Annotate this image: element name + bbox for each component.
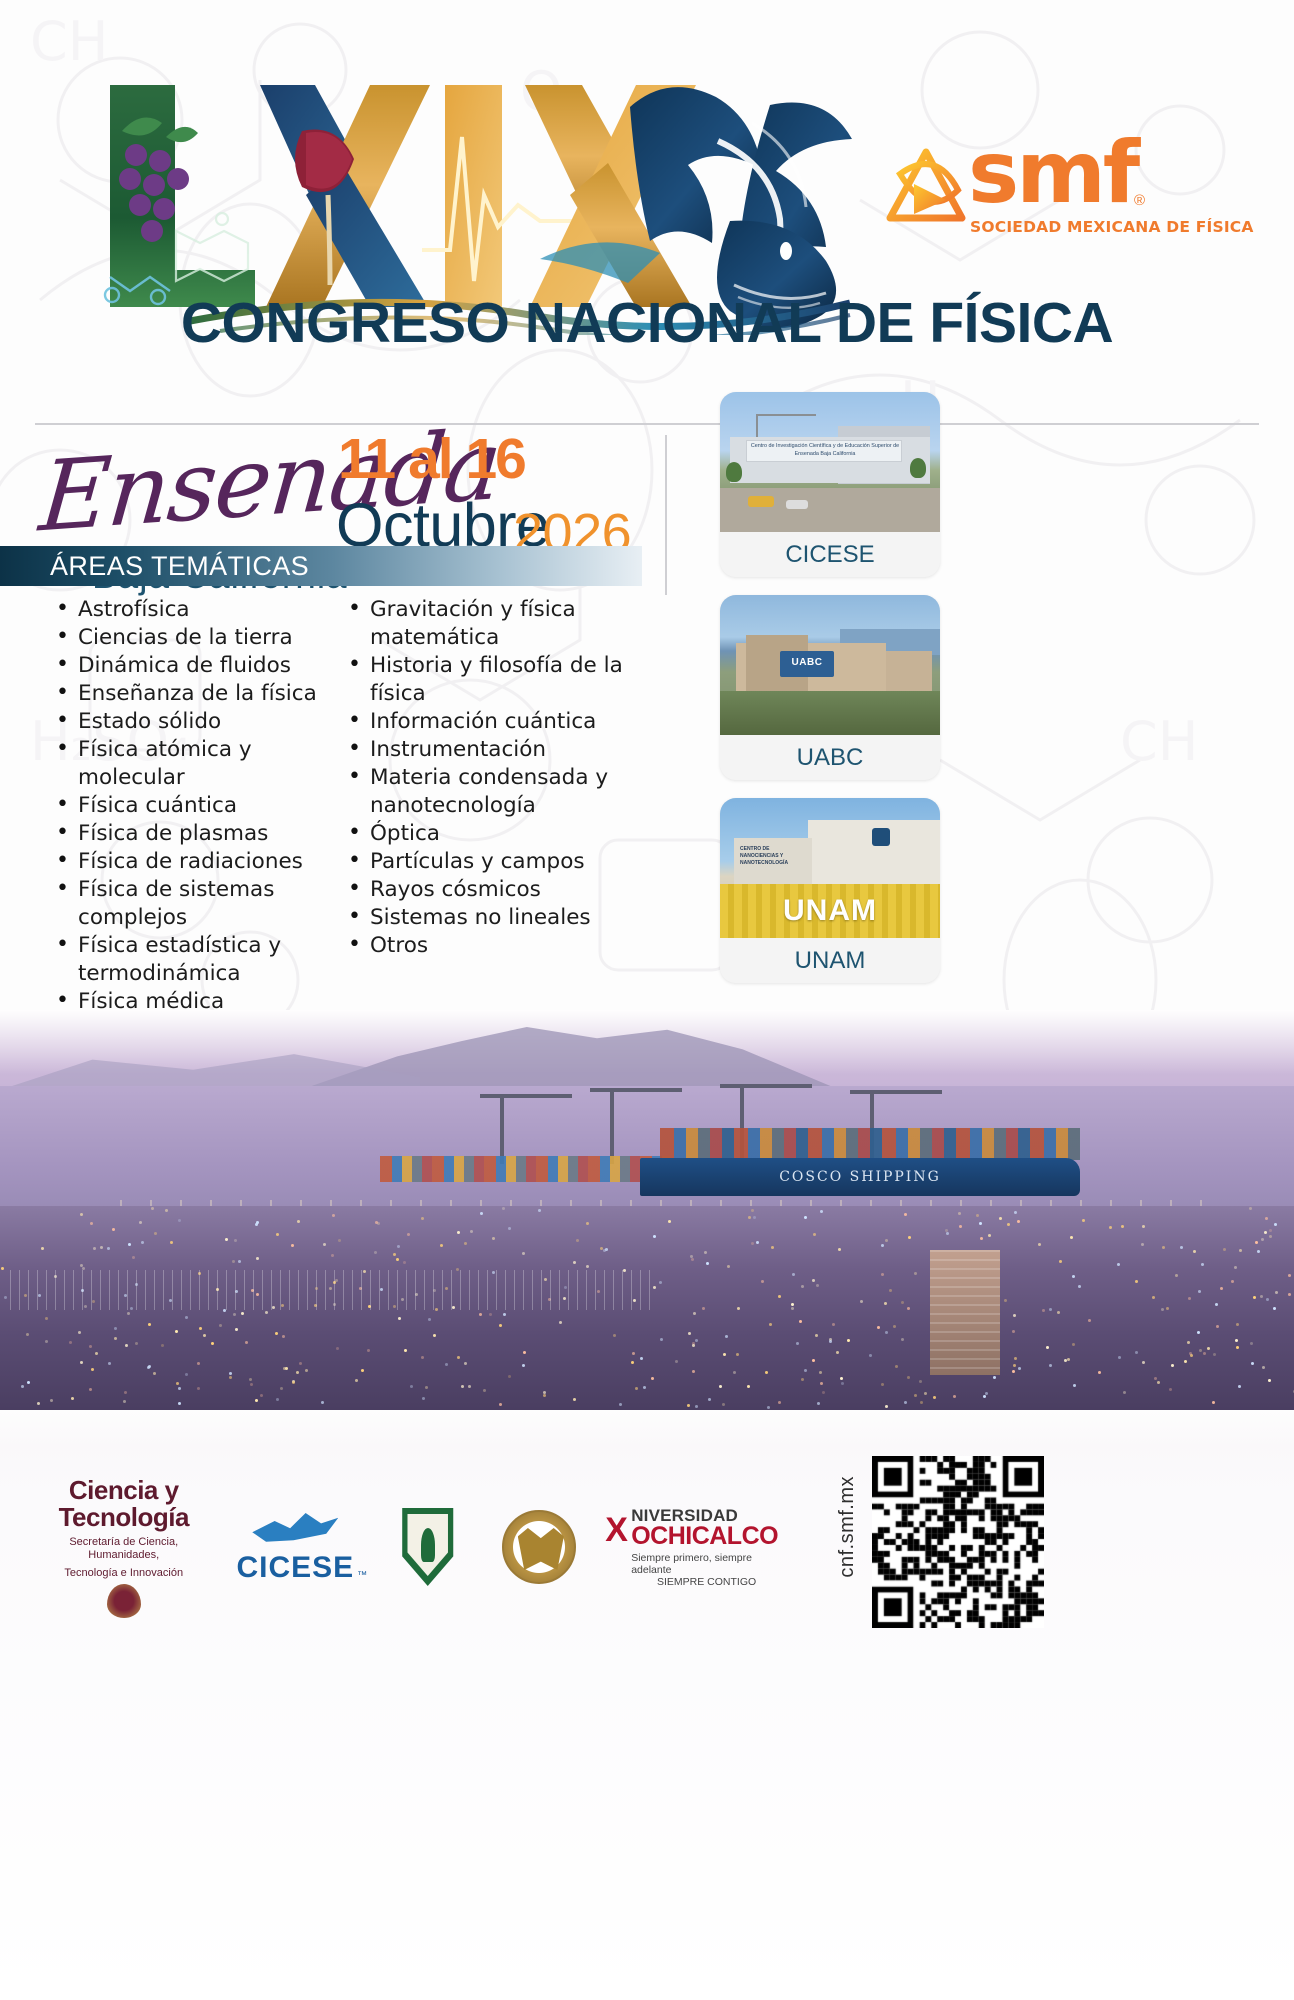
city-light	[1250, 1342, 1253, 1345]
city-light	[393, 1253, 396, 1256]
sponsor-logos: Ciencia y Tecnología Secretaría de Cienc…	[40, 1452, 800, 1642]
city-light	[275, 1332, 278, 1335]
city-light	[132, 1256, 135, 1259]
city-light	[1212, 1401, 1215, 1404]
city-light	[235, 1328, 238, 1331]
city-light	[659, 1281, 662, 1284]
xochicalco-line1: NIVERSIDAD	[631, 1507, 782, 1524]
ship-containers	[660, 1128, 1080, 1160]
city-light	[993, 1376, 996, 1379]
city-light	[41, 1247, 44, 1250]
city-light	[695, 1339, 698, 1342]
smf-subtitle: SOCIEDAD MEXICANA DE FÍSICA	[970, 218, 1254, 236]
city-light	[778, 1401, 781, 1404]
header-divider	[35, 423, 1259, 425]
city-light	[26, 1333, 29, 1336]
city-light	[176, 1382, 179, 1385]
city-light	[889, 1289, 892, 1292]
smf-wordmark: smf	[968, 130, 1137, 216]
city-light	[706, 1262, 709, 1265]
city-light	[45, 1317, 48, 1320]
city-light	[1249, 1207, 1252, 1210]
city-light	[250, 1383, 253, 1386]
city-light	[199, 1327, 202, 1330]
city-light	[1236, 1346, 1239, 1349]
city-light	[260, 1394, 263, 1397]
topic-list-item: Dinámica de fluidos	[52, 652, 330, 680]
city-light	[80, 1264, 83, 1267]
cicese-photo: Centro de Investigación Científica y de …	[720, 392, 940, 532]
city-light	[1007, 1223, 1010, 1226]
topic-list-item: Enseñanza de la física	[52, 680, 330, 708]
city-light	[737, 1307, 740, 1310]
city-light	[153, 1372, 156, 1375]
city-light	[479, 1313, 482, 1316]
city-light	[901, 1338, 904, 1341]
city-light	[100, 1246, 103, 1249]
city-light	[1288, 1293, 1291, 1296]
city-light	[1142, 1225, 1145, 1228]
cicese-bird-icon	[252, 1509, 338, 1549]
city-light	[1236, 1323, 1239, 1326]
city-light	[801, 1378, 804, 1381]
city-light	[45, 1340, 48, 1343]
topic-list-item: Óptica	[344, 820, 660, 848]
topic-list-item: Física cuántica	[52, 792, 330, 820]
city-light	[37, 1402, 40, 1405]
city-light	[1014, 1357, 1017, 1360]
city-light	[508, 1375, 511, 1378]
city-light	[1231, 1280, 1234, 1283]
city-light	[907, 1376, 910, 1379]
poster-header: smf ® SOCIEDAD MEXICANA DE FÍSICA CONGRE…	[0, 0, 1294, 440]
cicese-sponsor-name: CICESE	[226, 1551, 366, 1585]
city-light	[613, 1334, 616, 1337]
venue-card-unam[interactable]: CENTRO DE NANOCIENCIAS Y NANOTECNOLOGÍA …	[720, 798, 940, 983]
topics-column-left: AstrofísicaCiencias de la tierraDinámica…	[0, 596, 330, 1036]
city-light	[332, 1214, 335, 1217]
city-light	[91, 1368, 94, 1371]
city-light	[90, 1222, 93, 1225]
uabc-photo: UABC	[720, 595, 940, 735]
city-light	[1135, 1280, 1138, 1283]
unam-photo: CENTRO DE NANOCIENCIAS Y NANOTECNOLOGÍA …	[720, 798, 940, 938]
city-light	[367, 1349, 370, 1352]
city-light	[374, 1251, 377, 1254]
poster-root: CHO HCH H₂SO₄N O₂CH	[0, 0, 1294, 2000]
city-light	[1215, 1303, 1218, 1306]
city-light	[765, 1371, 768, 1374]
city-light	[1171, 1364, 1174, 1367]
areas-section-header: ÁREAS TEMÁTICAS	[0, 546, 642, 586]
city-light	[660, 1338, 663, 1341]
city-light	[1260, 1295, 1263, 1298]
city-light	[1207, 1347, 1210, 1350]
city-light	[1117, 1263, 1120, 1266]
city-light	[1013, 1364, 1016, 1367]
city-light	[543, 1394, 546, 1397]
city-light	[933, 1396, 936, 1399]
city-light	[211, 1342, 214, 1345]
topic-list-item: Instrumentación	[344, 736, 660, 764]
city-light	[398, 1317, 401, 1320]
city-light	[404, 1349, 407, 1352]
city-light	[489, 1313, 492, 1316]
xochicalco-line2: OCHICALCO	[631, 1524, 782, 1549]
city-light	[695, 1405, 698, 1408]
city-light	[829, 1340, 832, 1343]
city-light	[812, 1359, 815, 1362]
city-light	[640, 1357, 643, 1360]
city-light	[232, 1260, 235, 1263]
city-light	[410, 1385, 413, 1388]
city-light	[135, 1342, 138, 1345]
city-light	[407, 1233, 410, 1236]
topic-list-item: Gravitación y física matemática	[344, 596, 660, 652]
thematic-areas-lists: AstrofísicaCiencias de la tierraDinámica…	[0, 596, 680, 1036]
city-light	[804, 1216, 807, 1219]
city-light	[292, 1381, 295, 1384]
uabc-shield-icon	[399, 1508, 457, 1586]
topic-list-item: Física estadística y termodinámica	[52, 932, 330, 988]
topic-list-item: Astrofísica	[52, 596, 330, 624]
city-light	[719, 1385, 722, 1388]
city-light	[653, 1235, 656, 1238]
city-light	[791, 1307, 794, 1310]
city-light	[736, 1353, 739, 1356]
city-light	[1049, 1308, 1052, 1311]
city-light	[895, 1365, 898, 1368]
topic-list-item: Estado sólido	[52, 708, 330, 736]
city-light	[128, 1243, 131, 1246]
city-light	[832, 1323, 835, 1326]
city-light	[1188, 1297, 1191, 1300]
city-light	[1268, 1379, 1271, 1382]
city-light	[1042, 1309, 1045, 1312]
topic-list-item: Ciencias de la tierra	[52, 624, 330, 652]
city-light	[265, 1311, 268, 1314]
xochicalco-line4: SIEMPRE CONTIGO	[631, 1576, 782, 1588]
city-light	[1275, 1291, 1278, 1294]
city-light	[1018, 1367, 1021, 1370]
vertical-divider	[665, 435, 667, 595]
city-light	[1274, 1223, 1277, 1226]
city-light	[1251, 1362, 1254, 1365]
city-light	[89, 1345, 92, 1348]
city-light	[885, 1239, 888, 1242]
ciencia-line4: Tecnología e Innovación	[40, 1567, 208, 1580]
city-light	[1269, 1229, 1272, 1232]
city-light	[323, 1243, 326, 1246]
city-light	[635, 1387, 638, 1390]
city-light	[1264, 1231, 1267, 1234]
uabc-building-sign-text: UABC	[780, 657, 834, 668]
hotel-tower	[930, 1250, 1000, 1375]
city-light	[114, 1327, 117, 1330]
city-light	[751, 1242, 754, 1245]
city-light	[692, 1344, 695, 1347]
city-light	[470, 1230, 473, 1233]
city-light	[229, 1372, 232, 1375]
city-light	[464, 1242, 467, 1245]
city-light	[801, 1285, 804, 1288]
venue-card-uabc[interactable]: UABC UABC	[720, 595, 940, 780]
city-light	[1014, 1211, 1017, 1214]
city-light	[361, 1369, 364, 1372]
city-light	[276, 1398, 279, 1401]
dock-containers	[380, 1156, 670, 1182]
city-light	[881, 1244, 884, 1247]
city-light	[840, 1377, 843, 1380]
city-light	[238, 1260, 241, 1263]
smf-triangle-icon	[880, 144, 972, 234]
city-light	[538, 1209, 541, 1212]
city-light	[985, 1392, 988, 1395]
city-light	[1213, 1353, 1216, 1356]
city-light	[483, 1389, 486, 1392]
topic-list-item: Información cuántica	[344, 708, 660, 736]
city-light	[946, 1232, 949, 1235]
city-light	[229, 1376, 232, 1379]
city-light	[653, 1286, 656, 1289]
city-light	[1199, 1349, 1202, 1352]
page-title: CONGRESO NACIONAL DE FÍSICA	[0, 290, 1294, 356]
city-light	[815, 1334, 818, 1337]
city-light	[1152, 1296, 1155, 1299]
city-light	[1253, 1296, 1256, 1299]
city-light	[1141, 1243, 1144, 1246]
city-light	[860, 1300, 863, 1303]
city-light	[723, 1353, 726, 1356]
city-light	[819, 1371, 822, 1374]
city-light	[687, 1404, 690, 1407]
city-light	[704, 1251, 707, 1254]
city-light	[1067, 1358, 1070, 1361]
city-light	[1197, 1331, 1200, 1334]
ensenada-bay-photo: COSCO SHIPPING	[0, 1010, 1294, 1410]
city-light	[127, 1312, 130, 1315]
city-light	[1189, 1352, 1192, 1355]
city-light	[651, 1377, 654, 1380]
city-light	[1059, 1260, 1062, 1263]
city-light	[904, 1213, 907, 1216]
city-light	[280, 1387, 283, 1390]
city-light	[297, 1220, 300, 1223]
city-light	[291, 1244, 294, 1247]
city-light	[619, 1403, 622, 1406]
city-light	[691, 1258, 694, 1261]
city-light	[421, 1217, 424, 1220]
city-light	[282, 1335, 285, 1338]
city-light	[508, 1227, 511, 1230]
city-light	[299, 1362, 302, 1365]
city-light	[919, 1380, 922, 1383]
smf-registered-mark: ®	[1134, 192, 1145, 209]
city-light	[725, 1335, 728, 1338]
city-light	[4, 1296, 7, 1299]
city-light	[256, 1257, 259, 1260]
city-light	[1261, 1238, 1264, 1241]
city-light	[71, 1397, 74, 1400]
city-light	[1262, 1366, 1265, 1369]
city-light	[1098, 1371, 1101, 1374]
city-light	[241, 1312, 244, 1315]
city-light	[403, 1261, 406, 1264]
city-light	[1180, 1246, 1183, 1249]
city-light	[1234, 1266, 1237, 1269]
city-light	[1255, 1241, 1258, 1244]
city-light	[877, 1326, 880, 1329]
topic-list-item: Otros	[344, 932, 660, 960]
city-light	[175, 1330, 178, 1333]
city-light	[761, 1280, 764, 1283]
city-light	[1013, 1314, 1016, 1317]
city-light	[813, 1233, 816, 1236]
city-light	[702, 1307, 705, 1310]
city-light	[148, 1365, 151, 1368]
xochicalco-line3: Siempre primero, siempre adelante	[631, 1552, 782, 1576]
marina-sailboats	[10, 1270, 650, 1310]
city-light	[747, 1385, 750, 1388]
city-light	[499, 1403, 502, 1406]
city-light	[161, 1344, 164, 1347]
city-light	[522, 1252, 525, 1255]
topics-column-right: Gravitación y física matemáticaHistoria …	[330, 596, 660, 1036]
city-light	[1142, 1361, 1145, 1364]
city-light	[756, 1241, 759, 1244]
city-light	[792, 1273, 795, 1276]
poster-footer: Ciencia y Tecnología Secretaría de Cienc…	[0, 1410, 1294, 2000]
city-light	[1109, 1226, 1112, 1229]
city-light	[492, 1237, 495, 1240]
city-light	[804, 1369, 807, 1372]
city-light	[668, 1220, 671, 1223]
city-light	[953, 1395, 956, 1398]
city-light	[522, 1364, 525, 1367]
city-light	[885, 1331, 888, 1334]
city-light	[108, 1362, 111, 1365]
city-light	[1193, 1250, 1196, 1253]
city-light	[1257, 1250, 1260, 1253]
city-light	[503, 1313, 506, 1316]
city-light	[907, 1307, 910, 1310]
city-light	[999, 1217, 1002, 1220]
city-light	[89, 1388, 92, 1391]
city-light	[255, 1399, 258, 1402]
city-light	[796, 1342, 799, 1345]
city-light	[769, 1323, 772, 1326]
qr-code[interactable]	[872, 1456, 1044, 1628]
city-light	[1239, 1249, 1242, 1252]
city-light	[586, 1265, 589, 1268]
city-light	[884, 1302, 887, 1305]
city-light	[1082, 1219, 1085, 1222]
xochicalco-x-mark: X	[605, 1511, 628, 1550]
city-light	[336, 1347, 339, 1350]
sponsor-unam[interactable]	[490, 1510, 587, 1584]
city-light	[178, 1402, 181, 1405]
venue-card-cicese[interactable]: Centro de Investigación Científica y de …	[720, 392, 940, 577]
city-light	[338, 1239, 341, 1242]
city-light	[256, 1221, 259, 1224]
city-light	[276, 1233, 279, 1236]
city-light	[869, 1354, 872, 1357]
city-light	[93, 1247, 96, 1250]
city-light	[778, 1295, 781, 1298]
sponsor-cicese[interactable]: CICESE ™	[226, 1509, 366, 1585]
city-light	[722, 1403, 725, 1406]
city-light	[1220, 1287, 1223, 1290]
city-light	[185, 1373, 188, 1376]
city-light	[958, 1212, 961, 1215]
city-light	[841, 1382, 844, 1385]
city-light	[1072, 1275, 1075, 1278]
city-light	[139, 1221, 142, 1224]
city-light	[748, 1216, 751, 1219]
smf-logo: smf ® SOCIEDAD MEXICANA DE FÍSICA	[880, 140, 1170, 250]
city-light	[114, 1337, 117, 1340]
sponsor-ciencia-tecnologia[interactable]: Ciencia y Tecnología Secretaría de Cienc…	[40, 1477, 208, 1618]
city-light	[1017, 1220, 1020, 1223]
city-light	[1046, 1346, 1049, 1349]
city-light	[1223, 1248, 1226, 1251]
city-light	[1166, 1307, 1169, 1310]
city-light	[771, 1246, 774, 1249]
city-light	[1088, 1319, 1091, 1322]
city-light	[396, 1258, 399, 1261]
sponsor-uabc[interactable]	[383, 1508, 472, 1586]
bay-water	[0, 1086, 1294, 1216]
city-light	[1265, 1217, 1268, 1220]
city-light	[440, 1244, 443, 1247]
city-light	[1216, 1325, 1219, 1328]
city-light	[21, 1385, 24, 1388]
city-light	[576, 1239, 579, 1242]
city-light	[603, 1249, 606, 1252]
city-light	[1201, 1263, 1204, 1266]
city-light	[112, 1228, 115, 1231]
city-light	[178, 1387, 181, 1390]
city-light	[148, 1323, 151, 1326]
city-light	[688, 1332, 691, 1335]
city-light	[988, 1234, 991, 1237]
city-light	[249, 1378, 252, 1381]
ciencia-line1: Ciencia y	[40, 1477, 208, 1504]
city-light	[523, 1351, 526, 1354]
city-light	[1269, 1235, 1272, 1238]
topic-list-item: Partículas y campos	[344, 848, 660, 876]
congress-url-label: cnf.smf.mx	[836, 1476, 859, 1578]
unam-seal-icon	[502, 1510, 576, 1584]
city-light	[1038, 1243, 1041, 1246]
city-light	[820, 1382, 823, 1385]
city-light	[979, 1222, 982, 1225]
city-light	[924, 1392, 927, 1395]
city-light	[1162, 1246, 1165, 1249]
sponsor-xochicalco[interactable]: X NIVERSIDAD OCHICALCO Siempre primero, …	[605, 1507, 782, 1588]
city-light	[914, 1272, 917, 1275]
city-light	[1157, 1381, 1160, 1384]
city-light	[203, 1334, 206, 1337]
container-ship: COSCO SHIPPING	[640, 1158, 1080, 1196]
city-light	[1070, 1236, 1073, 1239]
city-light	[95, 1352, 98, 1355]
city-light	[631, 1361, 634, 1364]
city-light	[185, 1316, 188, 1319]
city-light	[643, 1386, 646, 1389]
unam-building-sign-text: CENTRO DE NANOCIENCIAS Y NANOTECNOLOGÍA	[740, 846, 806, 867]
city-light	[499, 1324, 502, 1327]
